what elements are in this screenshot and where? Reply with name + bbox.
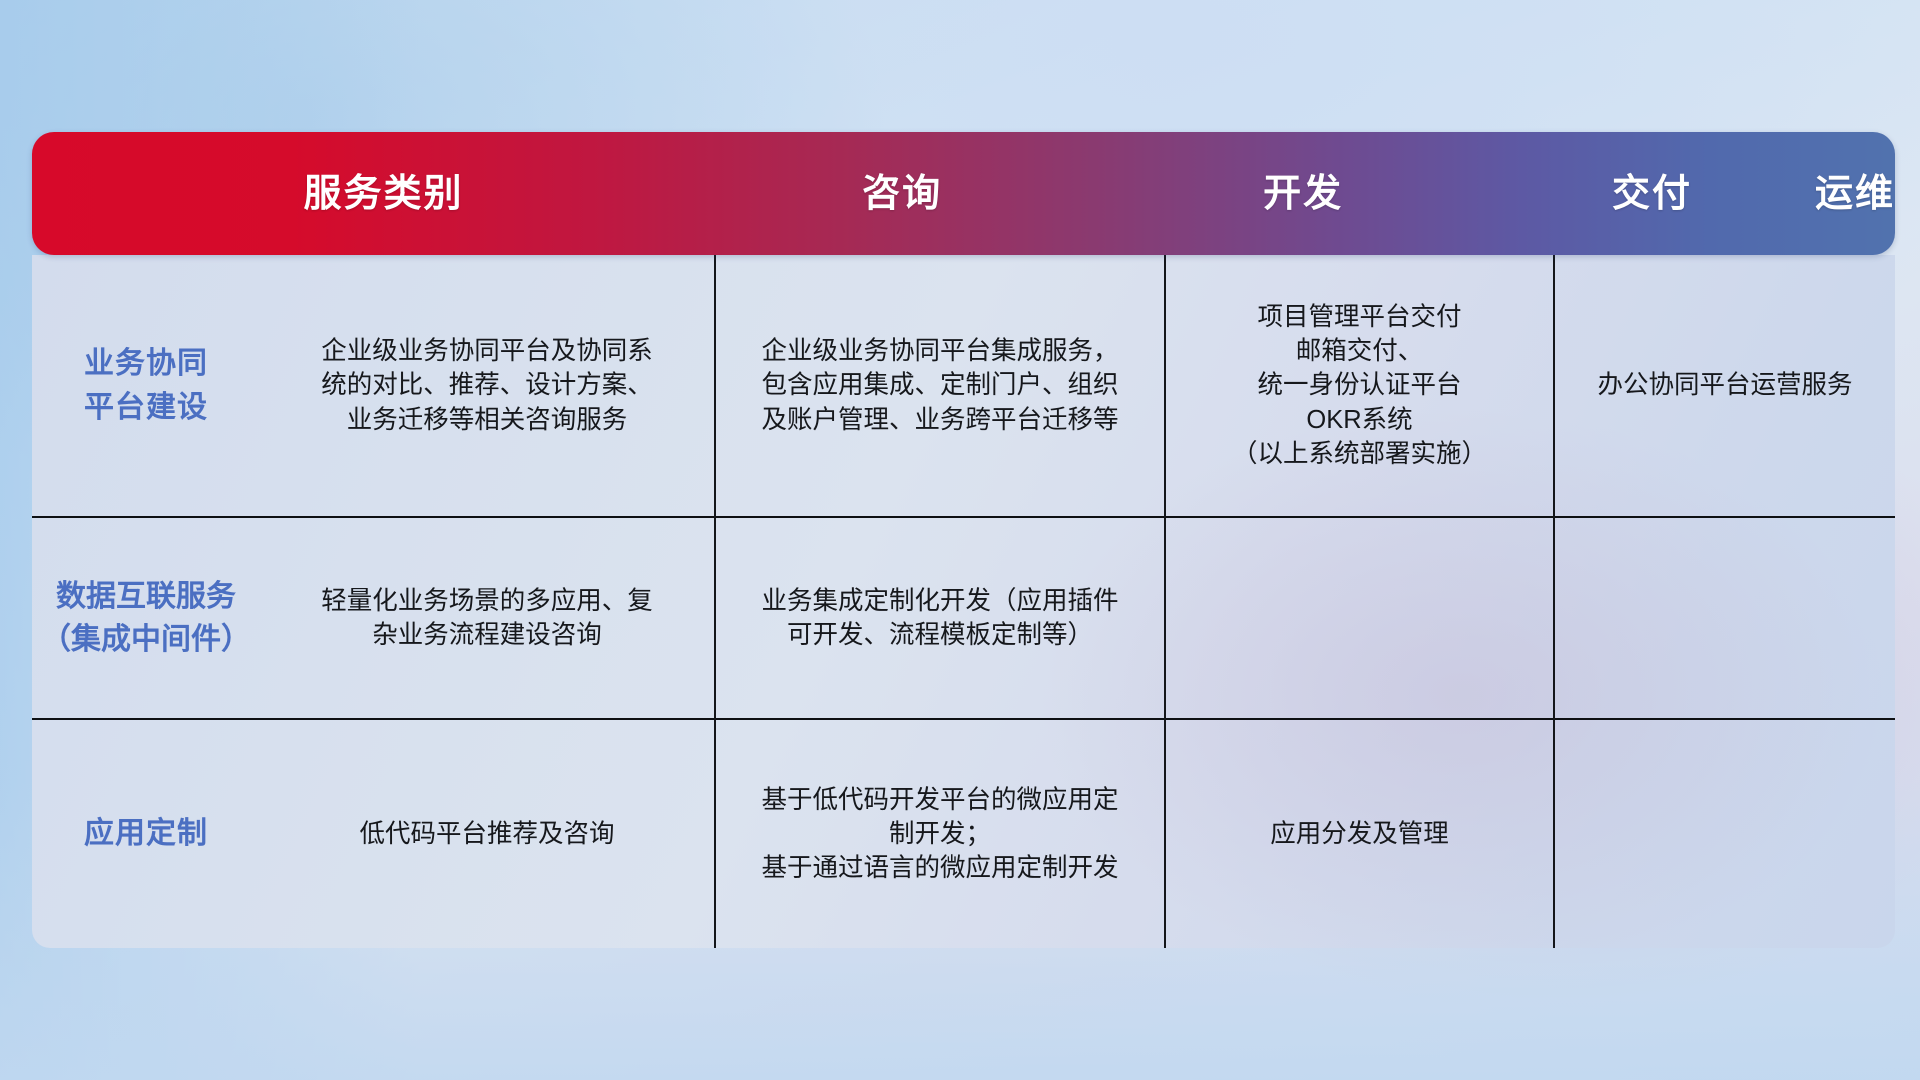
cell-development-row1: 企业级业务协同平台集成服务， 包含应用集成、定制门户、组织 及账户管理、业务跨平… [715, 255, 1165, 517]
table-row: 业务协同 平台建设 企业级业务协同平台及协同系 统的对比、推荐、设计方案、 业务… [32, 255, 1895, 517]
table-body: 业务协同 平台建设 企业级业务协同平台及协同系 统的对比、推荐、设计方案、 业务… [32, 255, 1895, 948]
cell-delivery-row1: 项目管理平台交付 邮箱交付、 统一身份认证平台 OKR系统 （以上系统部署实施） [1165, 255, 1554, 517]
row-label-app-customization: 应用定制 [32, 812, 260, 856]
cell-consulting-row1: 企业级业务协同平台及协同系 统的对比、推荐、设计方案、 业务迁移等相关咨询服务 [260, 334, 714, 436]
cell-consulting-row2: 轻量化业务场景的多应用、复 杂业务流程建设咨询 [260, 584, 714, 652]
column-header-category: 服务类别 [32, 175, 687, 213]
row-label-business-collaboration: 业务协同 平台建设 [32, 342, 260, 429]
row-group-cell: 应用定制 低代码平台推荐及咨询 [32, 719, 715, 948]
cell-consulting-row3: 低代码平台推荐及咨询 [260, 817, 714, 851]
row-label-data-interconnect: 数据互联服务 （集成中间件） [32, 575, 260, 662]
service-matrix-table: 业务协同 平台建设 企业级业务协同平台及协同系 统的对比、推荐、设计方案、 业务… [32, 255, 1895, 948]
column-header-consulting: 咨询 [687, 175, 1117, 213]
column-header-operations: 运维 [1815, 175, 1895, 213]
row-group-cell: 数据互联服务 （集成中间件） 轻量化业务场景的多应用、复 杂业务流程建设咨询 [32, 517, 715, 719]
cell-operations-row3 [1554, 719, 1895, 948]
column-header-development: 开发 [1117, 175, 1489, 213]
table-row: 数据互联服务 （集成中间件） 轻量化业务场景的多应用、复 杂业务流程建设咨询 业… [32, 517, 1895, 719]
table-header-bar: 服务类别 咨询 开发 交付 运维 [32, 132, 1895, 255]
cell-operations-row2 [1554, 517, 1895, 719]
cell-development-row3: 基于低代码开发平台的微应用定 制开发； 基于通过语言的微应用定制开发 [715, 719, 1165, 948]
column-header-delivery: 交付 [1489, 175, 1815, 213]
row-group-cell: 业务协同 平台建设 企业级业务协同平台及协同系 统的对比、推荐、设计方案、 业务… [32, 255, 715, 517]
cell-delivery-row2 [1165, 517, 1554, 719]
cell-development-row2: 业务集成定制化开发（应用插件 可开发、流程模板定制等） [715, 517, 1165, 719]
table-row: 应用定制 低代码平台推荐及咨询 基于低代码开发平台的微应用定 制开发； 基于通过… [32, 719, 1895, 948]
cell-delivery-row3: 应用分发及管理 [1165, 719, 1554, 948]
cell-operations-row1: 办公协同平台运营服务 [1554, 255, 1895, 517]
slide-canvas: 服务类别 咨询 开发 交付 运维 业务协同 平台建设 企业级业务协同平台及协同系… [0, 0, 1920, 1080]
